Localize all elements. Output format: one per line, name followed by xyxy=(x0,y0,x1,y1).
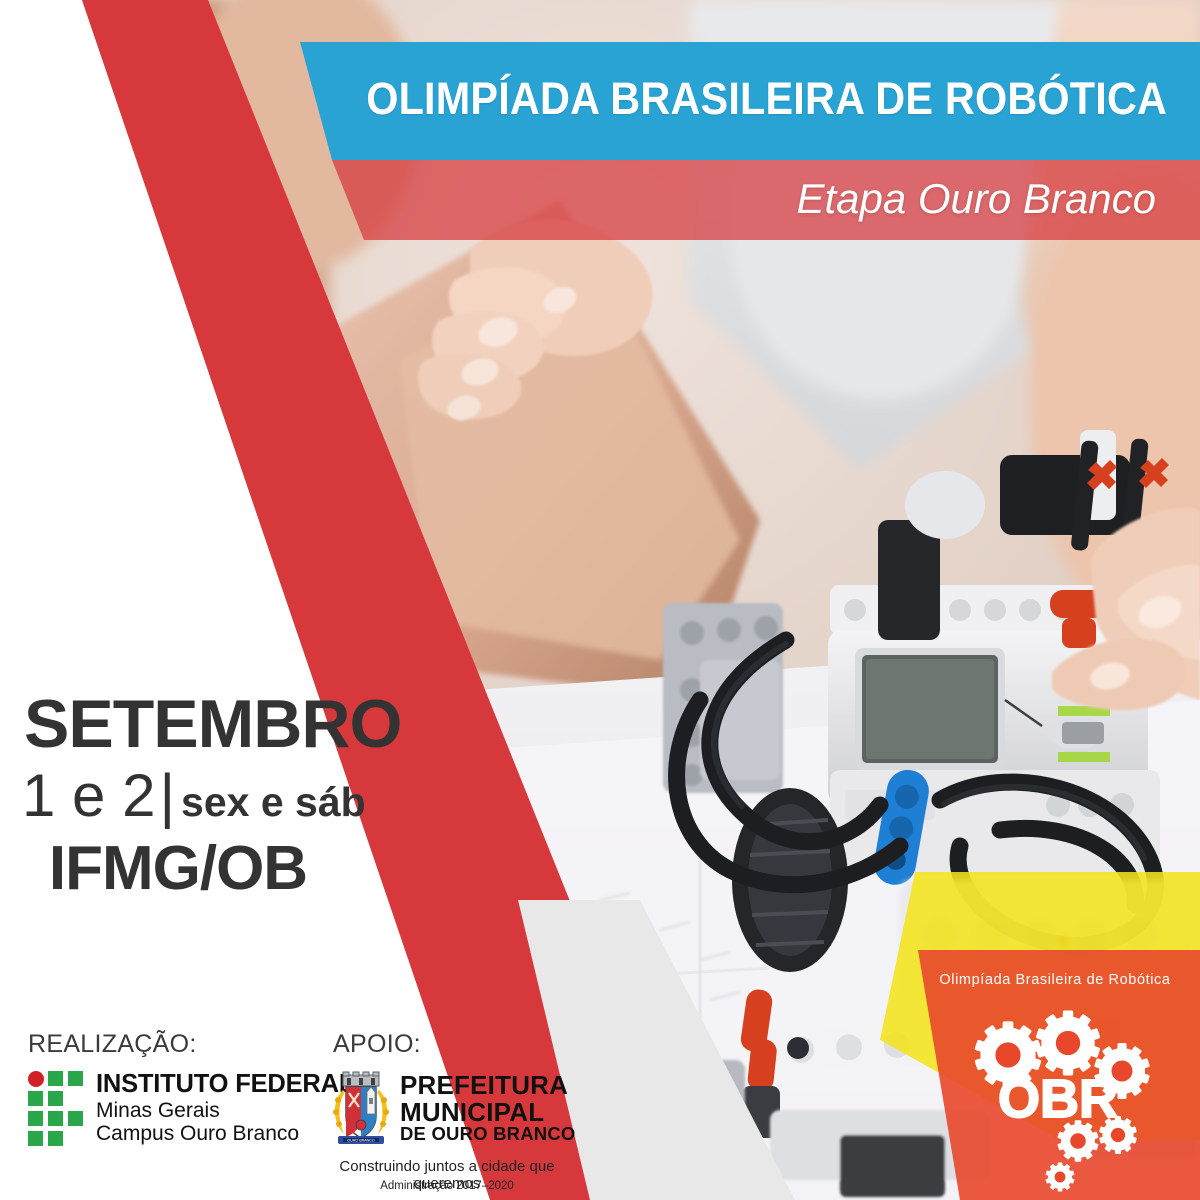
ifmg-square xyxy=(48,1091,63,1106)
days-separator: | xyxy=(155,758,179,833)
prefeitura-logo: OURO BRANCO PREFEITURA MUNICIPAL DE OURO… xyxy=(330,1070,575,1150)
obr-label: Olimpíada Brasileira de Robótica xyxy=(930,972,1180,988)
ifmg-square xyxy=(28,1131,43,1146)
prefeitura-line3: DE OURO BRANCO xyxy=(400,1125,575,1144)
ifmg-logo-mark xyxy=(28,1071,84,1145)
realizacao-group: REALIZAÇÃO: xyxy=(28,1030,197,1059)
ifmg-square xyxy=(48,1071,63,1086)
ouro-branco-coat-of-arms-icon: OURO BRANCO xyxy=(330,1070,392,1150)
ifmg-logo: INSTITUTO FEDERAL Minas Gerais Campus Ou… xyxy=(28,1070,354,1146)
prefeitura-administration: Administração 2017–2020 xyxy=(322,1180,572,1192)
event-days-row: 1 e 2 | sex e sáb xyxy=(0,758,430,833)
prefeitura-logo-text: PREFEITURA MUNICIPAL DE OURO BRANCO xyxy=(400,1070,575,1144)
ifmg-square xyxy=(68,1071,83,1086)
obr-gears-logo: OBR xyxy=(960,995,1170,1195)
obr-acronym: OBR xyxy=(998,1069,1118,1129)
ifmg-square xyxy=(48,1111,63,1126)
apoio-label: APOIO: xyxy=(333,1030,421,1059)
event-weekdays: sex e sáb xyxy=(179,777,366,828)
event-date-block: SETEMBRO 1 e 2 | sex e sáb IFMG/OB xyxy=(0,690,430,904)
event-days: 1 e 2 xyxy=(22,758,155,833)
ifmg-logo-text: INSTITUTO FEDERAL Minas Gerais Campus Ou… xyxy=(96,1070,354,1146)
prefeitura-line2: MUNICIPAL xyxy=(400,1099,575,1126)
ifmg-line3: Campus Ouro Branco xyxy=(96,1122,354,1146)
event-venue: IFMG/OB xyxy=(0,833,430,904)
ifmg-red-dot xyxy=(28,1071,44,1087)
ifmg-line2: Minas Gerais xyxy=(96,1099,354,1123)
prefeitura-line1: PREFEITURA xyxy=(400,1072,575,1099)
realizacao-label: REALIZAÇÃO: xyxy=(28,1030,197,1059)
event-month: SETEMBRO xyxy=(0,690,430,758)
page-title: OLIMPÍADA BRASILEIRA DE ROBÓTICA xyxy=(370,58,1180,140)
poster-canvas: OLIMPÍADA BRASILEIRA DE ROBÓTICA Etapa O… xyxy=(0,0,1200,1200)
page-subtitle: Etapa Ouro Branco xyxy=(300,168,1180,230)
apoio-group: APOIO: xyxy=(333,1030,421,1059)
ifmg-line1: INSTITUTO FEDERAL xyxy=(96,1070,354,1099)
footer-logos: REALIZAÇÃO: INSTITUTO FEDERAL Minas Gera… xyxy=(0,1030,600,1200)
svg-text:OURO BRANCO: OURO BRANCO xyxy=(347,1139,374,1143)
ifmg-square xyxy=(48,1131,63,1146)
ifmg-square xyxy=(28,1111,43,1126)
ifmg-square xyxy=(28,1091,43,1106)
ifmg-square xyxy=(68,1111,83,1126)
